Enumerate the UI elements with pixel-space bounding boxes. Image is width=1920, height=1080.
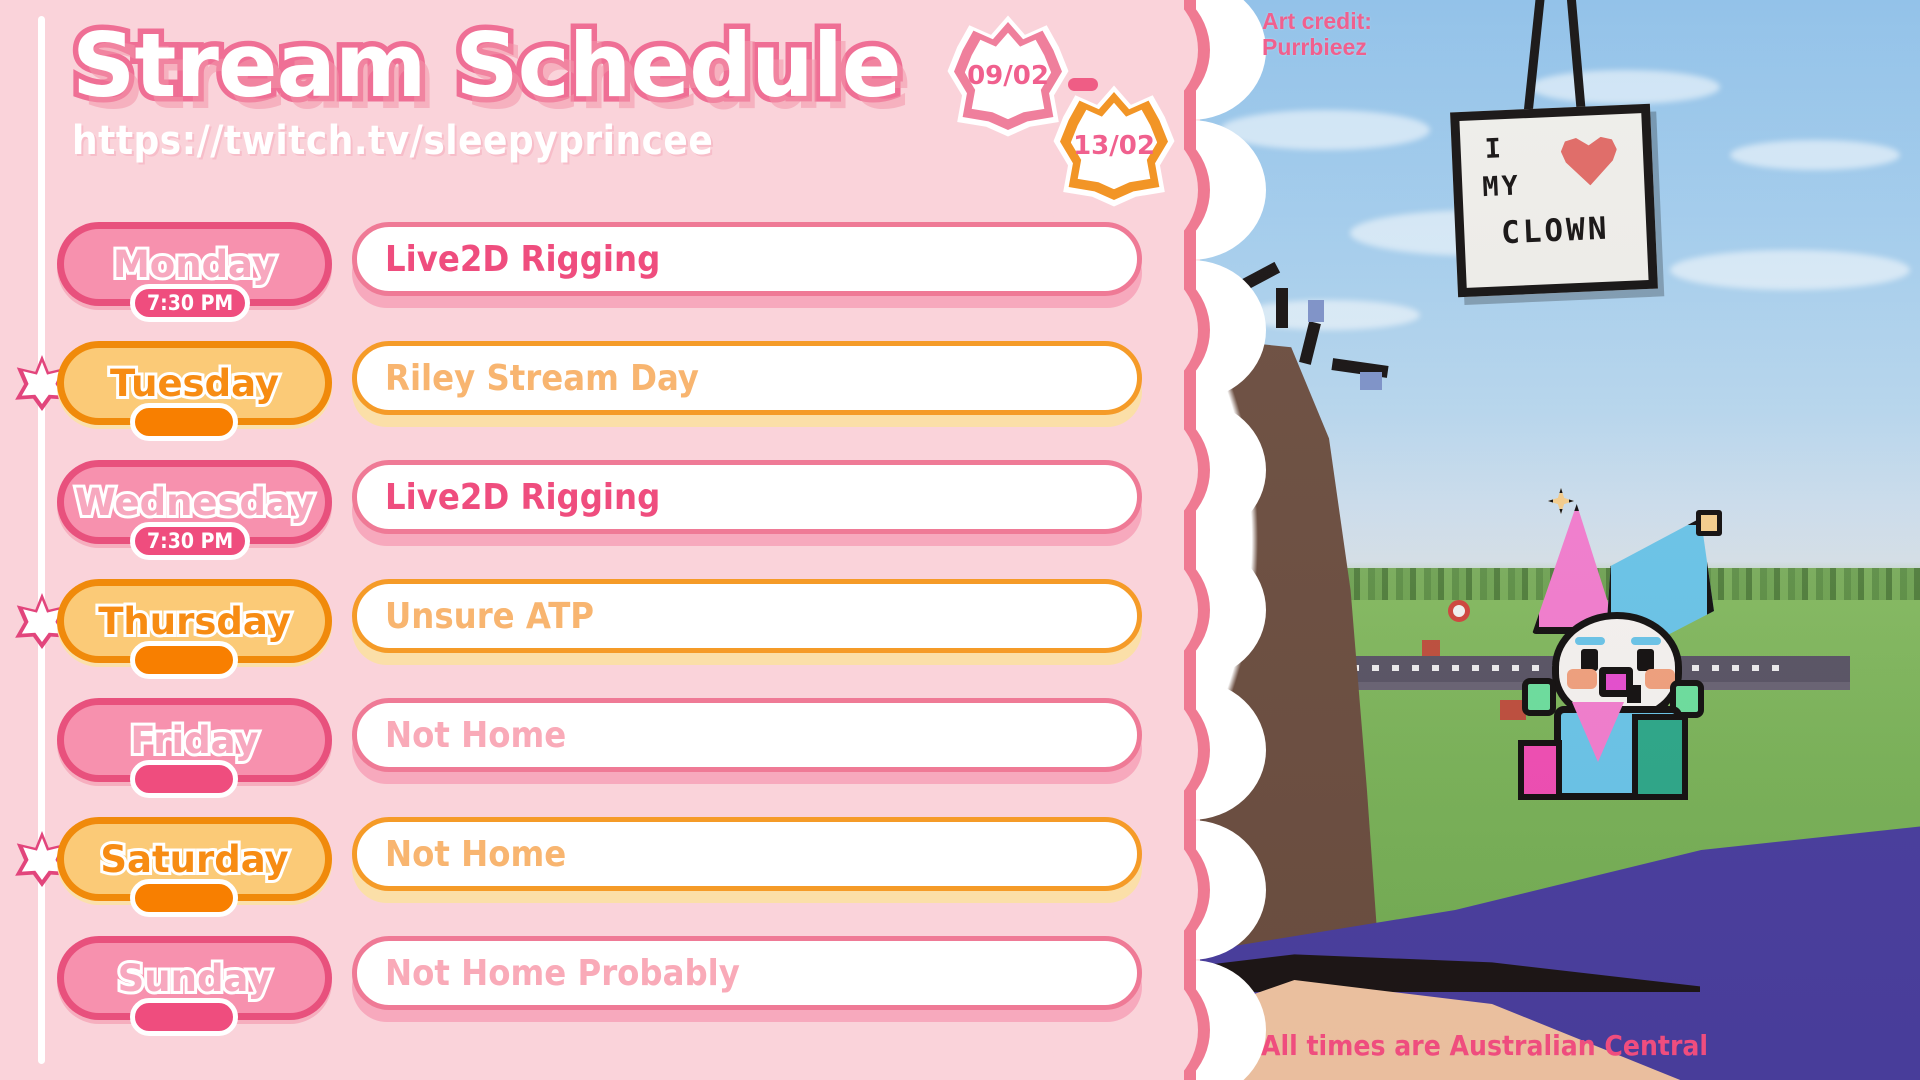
hanging-sign: I MY CLOWN — [1450, 104, 1658, 298]
event-label: Not Home — [385, 834, 566, 875]
cloud-icon — [1730, 140, 1900, 170]
event-box[interactable]: Not Home — [352, 817, 1142, 891]
tree-leaf — [1308, 300, 1324, 322]
day-label: Sunday — [118, 957, 272, 1000]
time-badge — [130, 403, 238, 441]
art-credit-label: Art credit: Purrbieez — [1262, 8, 1372, 61]
event-label: Live2D Rigging — [385, 477, 660, 518]
red-roof — [1422, 640, 1440, 656]
distant-red-sign-icon — [1448, 600, 1470, 622]
schedule-row: SundayNot Home Probably — [0, 936, 1190, 1055]
time-badge — [130, 641, 238, 679]
clown-arm — [1518, 740, 1562, 800]
event-box[interactable]: Riley Stream Day — [352, 341, 1142, 415]
date-end-badge: 13/02 — [1060, 92, 1168, 200]
schedule-row: ThursdayUnsure ATP — [0, 579, 1190, 698]
cloud-icon — [1530, 70, 1720, 104]
tooth — [1627, 685, 1641, 703]
event-label: Not Home Probably — [385, 953, 740, 994]
date-range-dash — [1068, 78, 1098, 91]
clown-body-green — [1632, 714, 1688, 800]
day-label: Wednesday — [75, 481, 314, 524]
eye — [1637, 649, 1654, 671]
clown-character — [1520, 500, 1750, 800]
day-label: Thursday — [98, 600, 291, 643]
event-box[interactable]: Live2D Rigging — [352, 460, 1142, 534]
date-end-text: 13/02 — [1073, 131, 1155, 161]
time-badge — [130, 760, 238, 798]
cloud-icon — [1670, 250, 1910, 290]
sign-line-3: CLOWN — [1464, 209, 1647, 253]
eyelid — [1575, 637, 1605, 645]
event-label: Riley Stream Day — [385, 358, 699, 399]
day-label: Tuesday — [110, 362, 279, 405]
time-badge: 7:30 PM — [130, 284, 250, 322]
event-box[interactable]: Live2D Rigging — [352, 222, 1142, 296]
schedule-row: SaturdayNot Home — [0, 817, 1190, 936]
schedule-row: TuesdayRiley Stream Day — [0, 341, 1190, 460]
eyelid — [1631, 637, 1661, 645]
event-label: Unsure ATP — [385, 596, 594, 637]
sign-line-2: MY — [1462, 165, 1645, 204]
stream-schedule-graphic: I MY CLOWN — [0, 0, 1920, 1080]
time-badge: 7:30 PM — [130, 522, 250, 560]
date-start-text: 09/02 — [967, 61, 1049, 91]
time-badge — [130, 998, 238, 1036]
event-box[interactable]: Not Home — [352, 698, 1142, 772]
schedule-row: Monday7:30 PMLive2D Rigging — [0, 222, 1190, 341]
day-label: Saturday — [100, 838, 288, 881]
time-badge — [130, 879, 238, 917]
cloud-icon — [1240, 300, 1420, 330]
pompom-icon — [1696, 510, 1722, 536]
star-pompom-icon — [1548, 488, 1574, 514]
collar-ruffle — [1522, 678, 1556, 716]
event-box[interactable]: Unsure ATP — [352, 579, 1142, 653]
schedule-row: FridayNot Home — [0, 698, 1190, 817]
sign-line-1: I — [1460, 127, 1643, 166]
event-label: Not Home — [385, 715, 566, 756]
tree-branch — [1276, 288, 1288, 328]
day-label: Monday — [113, 243, 276, 286]
event-label: Live2D Rigging — [385, 239, 660, 280]
page-title: Stream Schedule — [72, 22, 901, 110]
day-label: Friday — [130, 719, 258, 762]
event-box[interactable]: Not Home Probably — [352, 936, 1142, 1010]
tree-leaf — [1360, 372, 1382, 390]
timezone-note: All times are Australian Central — [1261, 1029, 1708, 1062]
pixel-art-scene: I MY CLOWN — [1200, 0, 1920, 1080]
twitch-url[interactable]: https://twitch.tv/sleepyprincee — [72, 118, 901, 164]
schedule-rows: Monday7:30 PMLive2D RiggingTuesdayRiley … — [0, 222, 1190, 1055]
header: Stream Schedule https://twitch.tv/sleepy… — [72, 22, 901, 164]
date-start-badge: 09/02 — [954, 22, 1062, 130]
schedule-row: Wednesday7:30 PMLive2D Rigging — [0, 460, 1190, 579]
eye — [1581, 649, 1598, 671]
